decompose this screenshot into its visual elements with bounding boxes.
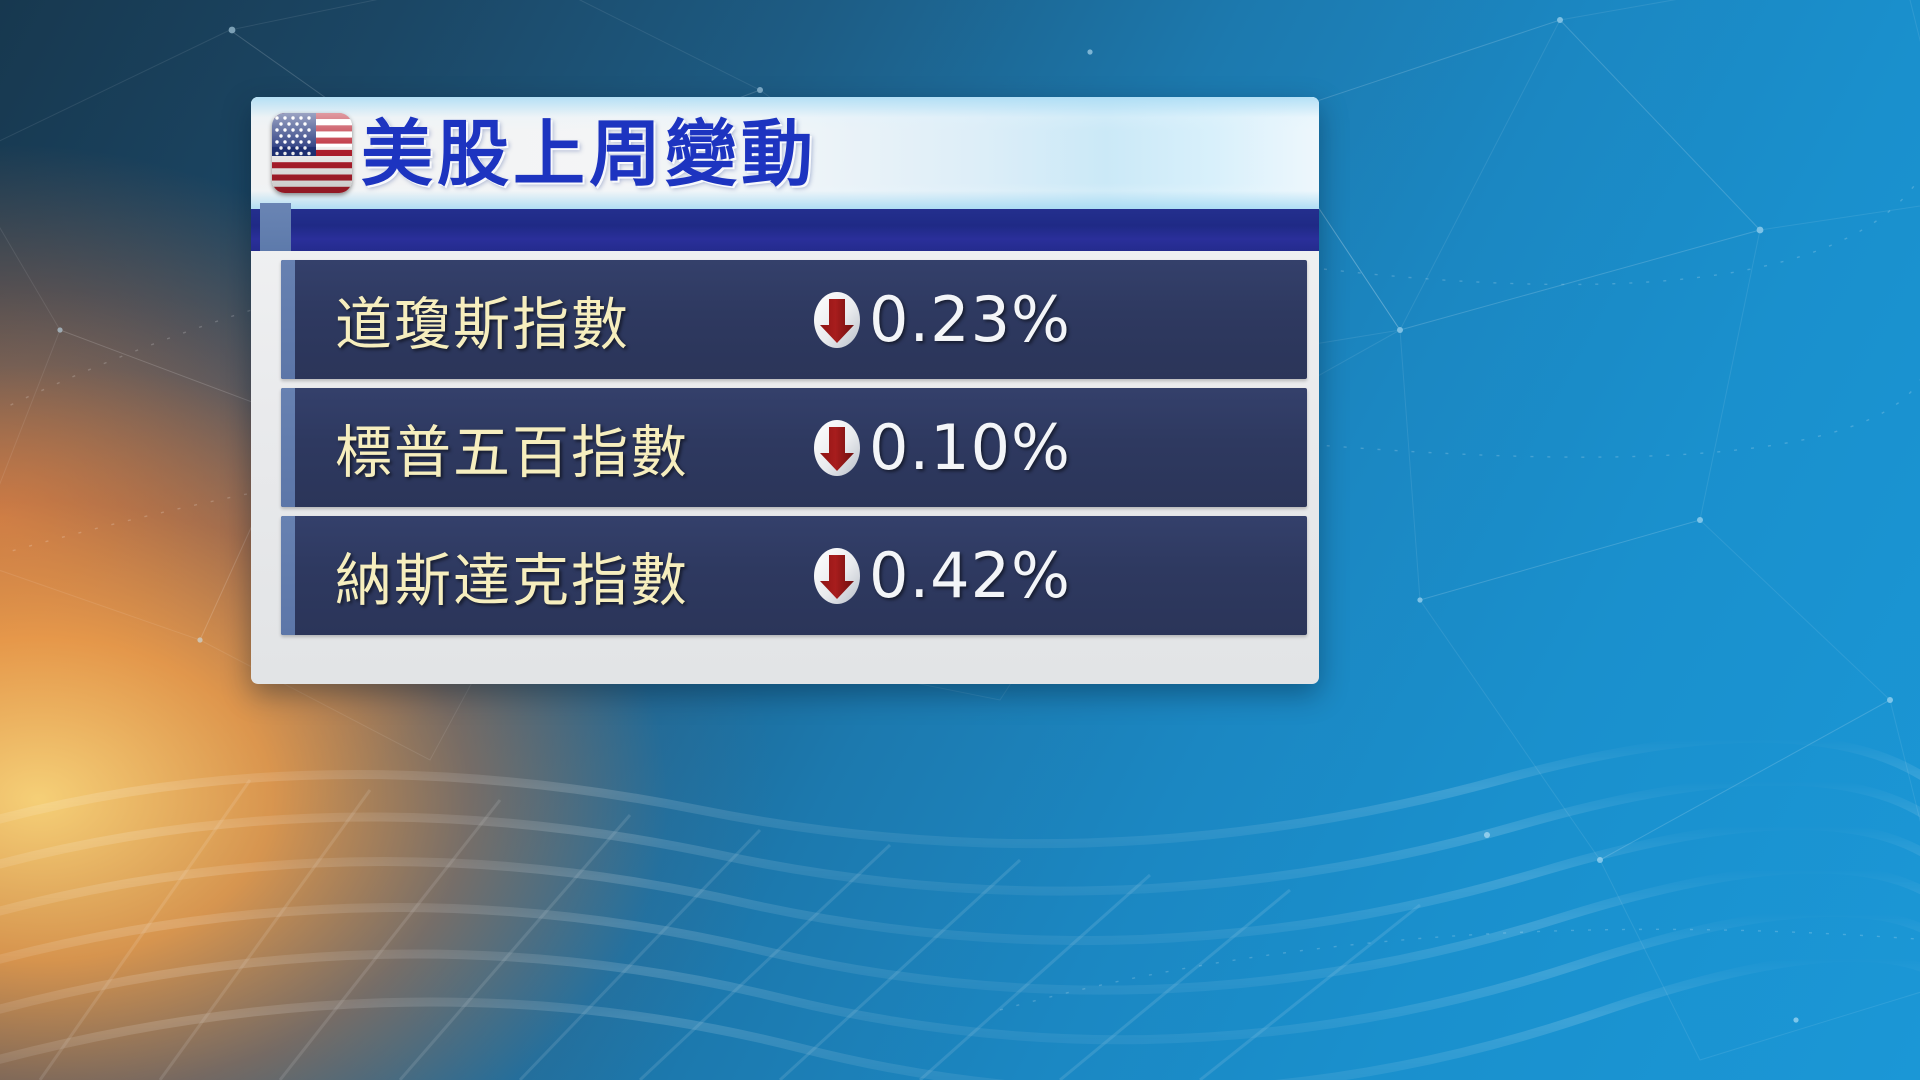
row-accent-bar — [281, 516, 295, 635]
us-flag-icon — [272, 113, 352, 193]
index-name: 標普五百指數 — [335, 407, 689, 489]
index-change: 0.23% — [809, 283, 1071, 356]
arrow-down-icon — [809, 291, 865, 349]
stock-summary-card: 美股上周變動 道瓊斯指數 — [251, 97, 1319, 684]
list-item: 道瓊斯指數 — [281, 260, 1307, 379]
row-accent-bar — [281, 260, 295, 379]
index-change: 0.42% — [809, 539, 1071, 612]
list-item: 納斯達克指數 0.42% — [281, 516, 1307, 635]
change-value: 0.23% — [869, 283, 1071, 356]
header-accent-band — [251, 209, 1319, 251]
wave-pattern-decoration — [0, 660, 1920, 1080]
list-item: 標普五百指數 0.10% — [281, 388, 1307, 507]
arrow-down-icon — [809, 419, 865, 477]
card-header: 美股上周變動 — [251, 97, 1319, 209]
change-value: 0.10% — [869, 411, 1071, 484]
index-name: 道瓊斯指數 — [335, 279, 630, 361]
arrow-down-icon — [809, 547, 865, 605]
row-accent-bar — [281, 388, 295, 507]
index-change: 0.10% — [809, 411, 1071, 484]
page-title: 美股上周變動 — [361, 108, 817, 200]
index-name: 納斯達克指數 — [335, 535, 689, 617]
band-tab-marker — [260, 203, 291, 251]
index-list: 道瓊斯指數 — [251, 251, 1319, 684]
change-value: 0.42% — [869, 539, 1071, 612]
